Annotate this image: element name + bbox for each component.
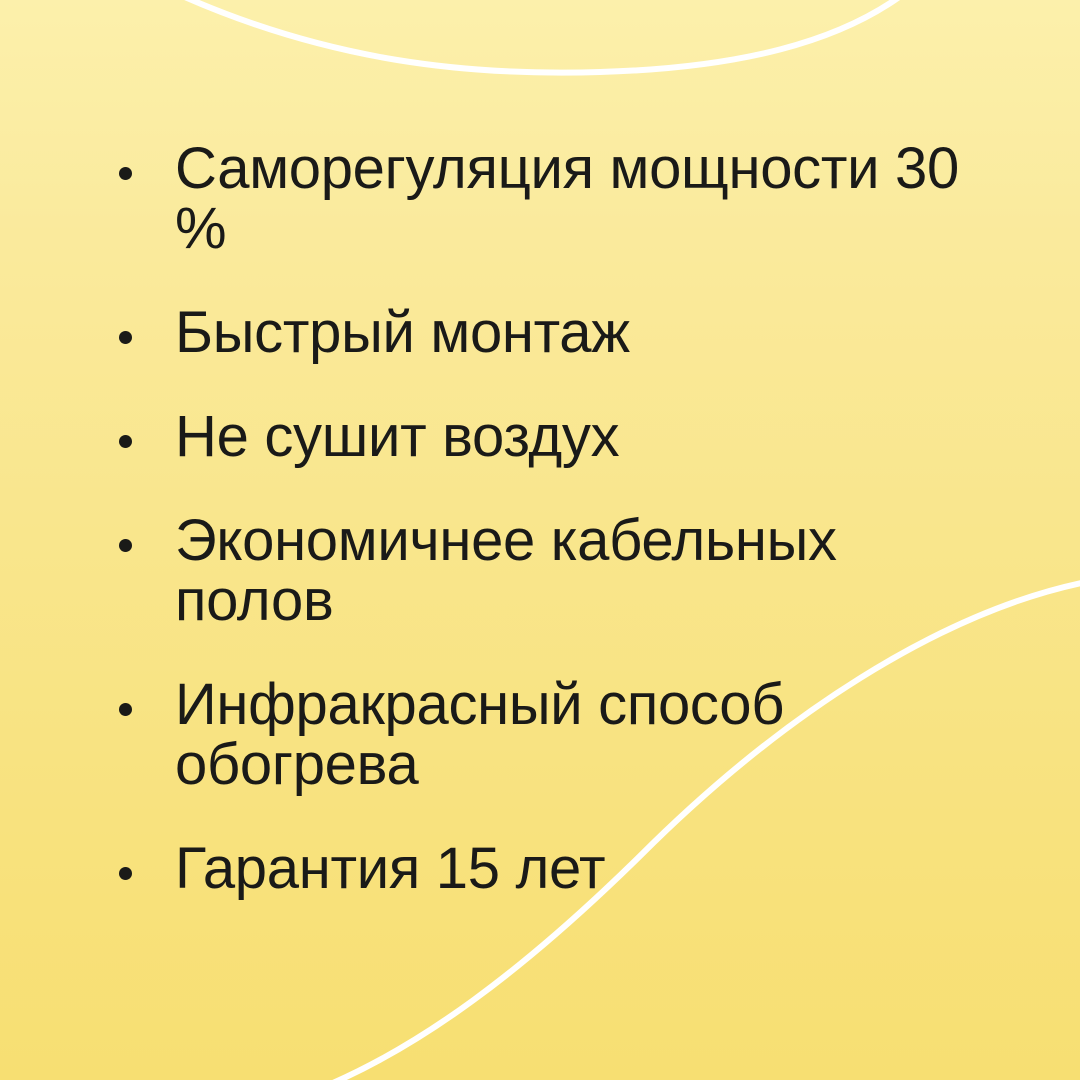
bullet-dot-icon — [119, 167, 132, 180]
list-item-label: Инфракрасный способ обогрева — [175, 675, 965, 795]
slide-canvas: Саморегуляция мощности 30 % Быстрый монт… — [0, 0, 1080, 1080]
list-item: Гарантия 15 лет — [110, 839, 965, 899]
bullet-dot-icon — [119, 331, 132, 344]
list-item: Экономичнее кабельных полов — [110, 511, 965, 631]
bullet-dot-icon — [119, 435, 132, 448]
bullet-dot-icon — [119, 867, 132, 880]
list-item-label: Быстрый монтаж — [175, 303, 965, 363]
list-item: Инфракрасный способ обогрева — [110, 675, 965, 795]
bullet-dot-icon — [119, 539, 132, 552]
bullet-dot-icon — [119, 703, 132, 716]
list-item-label: Не сушит воздух — [175, 407, 965, 467]
list-item-label: Экономичнее кабельных полов — [175, 511, 965, 631]
slide-content: Саморегуляция мощности 30 % Быстрый монт… — [0, 0, 1080, 1080]
list-item: Саморегуляция мощности 30 % — [110, 139, 965, 259]
list-item-label: Гарантия 15 лет — [175, 839, 965, 899]
feature-bullet-list: Саморегуляция мощности 30 % Быстрый монт… — [110, 139, 970, 899]
list-item: Не сушит воздух — [110, 407, 965, 467]
list-item: Быстрый монтаж — [110, 303, 965, 363]
list-item-label: Саморегуляция мощности 30 % — [175, 139, 965, 259]
